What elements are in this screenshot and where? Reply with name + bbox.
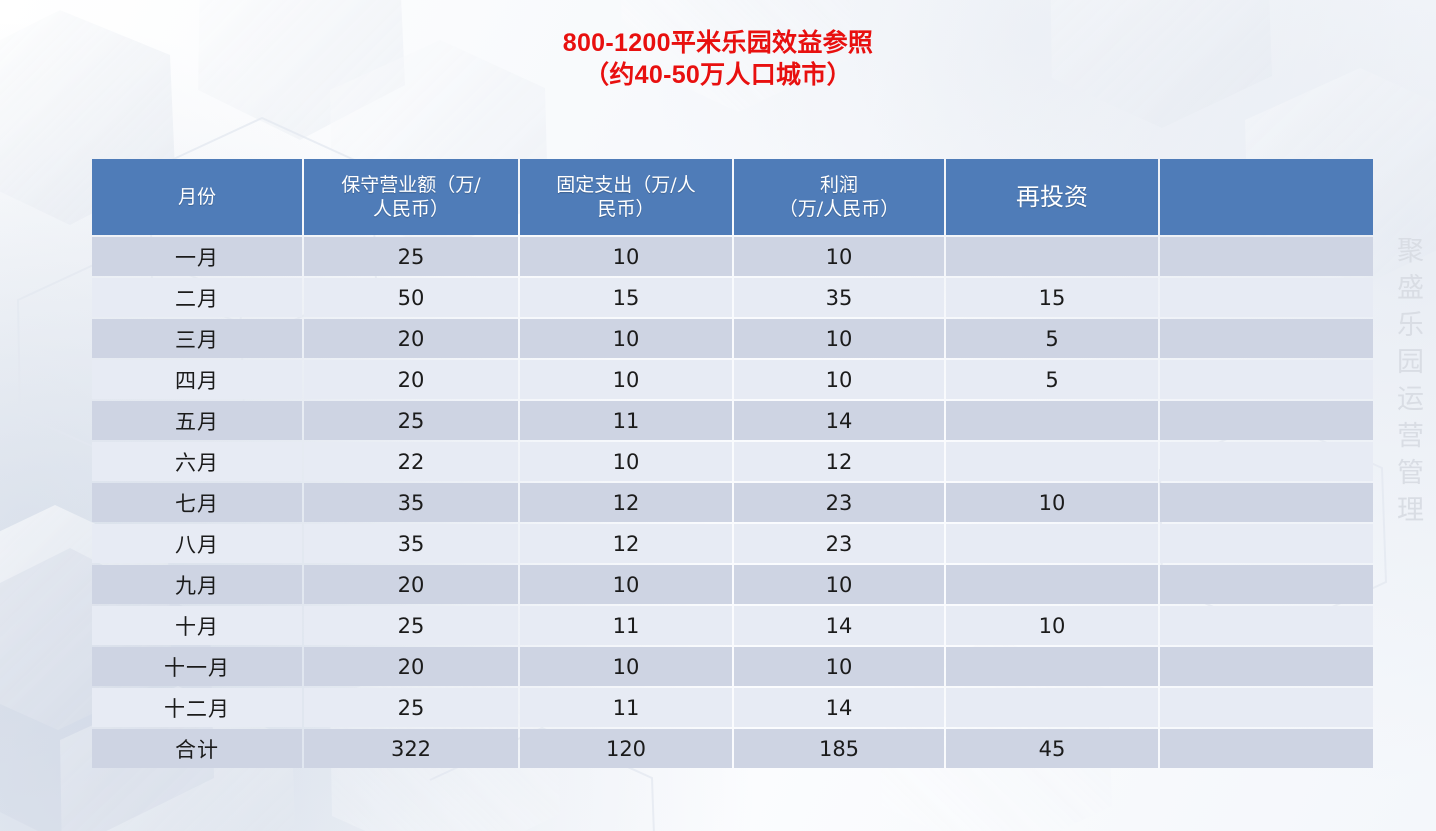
cell-month[interactable]: 四月 [92, 360, 302, 399]
cell-blank[interactable] [1160, 360, 1373, 399]
cell-month-value: 十一月 [92, 652, 302, 682]
column-header-reinvestment[interactable]: 再投资 [946, 159, 1158, 235]
cell-month-value: 十月 [92, 611, 302, 641]
cell-month-value: 七月 [92, 488, 302, 518]
cell-fixed-cost[interactable]: 10 [520, 647, 732, 686]
cell-month[interactable]: 十一月 [92, 647, 302, 686]
cell-profit-value: 14 [734, 696, 944, 720]
column-header-revenue-line-1: 保守营业额（万/ [304, 173, 518, 197]
cell-month[interactable]: 七月 [92, 483, 302, 522]
cell-fixed-cost[interactable]: 120 [520, 729, 732, 768]
profit-reference-table-container: 月份 保守营业额（万/ 人民币） 固定支出（万/人 民币） 利润 （万/人民币）… [92, 159, 1371, 768]
cell-profit[interactable]: 10 [734, 237, 944, 276]
table-row: 三月2010105 [92, 319, 1373, 358]
cell-revenue[interactable]: 20 [304, 319, 518, 358]
cell-month-value: 三月 [92, 324, 302, 354]
table-row: 十一月201010 [92, 647, 1373, 686]
cell-profit[interactable]: 10 [734, 360, 944, 399]
cell-fixed-cost[interactable]: 10 [520, 319, 732, 358]
cell-revenue-value: 20 [304, 327, 518, 351]
cell-profit-value: 10 [734, 368, 944, 392]
cell-revenue-value: 25 [304, 245, 518, 269]
cell-fixed-cost-value: 12 [520, 532, 732, 556]
cell-fixed-cost-value: 10 [520, 573, 732, 597]
cell-profit[interactable]: 10 [734, 565, 944, 604]
cell-profit[interactable]: 14 [734, 606, 944, 645]
cell-month[interactable]: 合计 [92, 729, 302, 768]
cell-month-value: 四月 [92, 365, 302, 395]
cell-profit[interactable]: 10 [734, 647, 944, 686]
table-row: 十月25111410 [92, 606, 1373, 645]
cell-month-value: 五月 [92, 406, 302, 436]
cell-revenue-value: 322 [304, 737, 518, 761]
table-row: 合计32212018545 [92, 729, 1373, 768]
cell-profit[interactable]: 12 [734, 442, 944, 481]
cell-profit-value: 10 [734, 327, 944, 351]
cell-blank[interactable] [1160, 319, 1373, 358]
cell-revenue[interactable]: 20 [304, 565, 518, 604]
cell-revenue[interactable]: 25 [304, 401, 518, 440]
table-header: 月份 保守营业额（万/ 人民币） 固定支出（万/人 民币） 利润 （万/人民币）… [92, 159, 1373, 235]
cell-fixed-cost[interactable]: 11 [520, 401, 732, 440]
cell-fixed-cost-value: 10 [520, 327, 732, 351]
cell-revenue[interactable]: 25 [304, 606, 518, 645]
cell-fixed-cost-value: 10 [520, 655, 732, 679]
cell-month[interactable]: 九月 [92, 565, 302, 604]
cell-fixed-cost-value: 11 [520, 409, 732, 433]
cell-revenue-value: 25 [304, 409, 518, 433]
cell-revenue-value: 35 [304, 491, 518, 515]
cell-revenue-value: 35 [304, 532, 518, 556]
cell-fixed-cost-value: 15 [520, 286, 732, 310]
cell-profit-value: 10 [734, 245, 944, 269]
table-row: 十二月251114 [92, 688, 1373, 727]
cell-revenue[interactable]: 35 [304, 483, 518, 522]
cell-reinvestment[interactable]: 10 [946, 483, 1158, 522]
cell-month[interactable]: 八月 [92, 524, 302, 563]
column-header-profit-line-1: 利润 [734, 173, 944, 197]
cell-fixed-cost-value: 10 [520, 245, 732, 269]
cell-reinvestment[interactable]: 45 [946, 729, 1158, 768]
cell-profit[interactable]: 14 [734, 688, 944, 727]
cell-reinvestment[interactable] [946, 524, 1158, 563]
page-title-line-1: 800-1200平米乐园效益参照 [0, 27, 1436, 59]
column-header-revenue-line-2: 人民币） [304, 197, 518, 221]
cell-revenue-value: 50 [304, 286, 518, 310]
cell-revenue-value: 20 [304, 368, 518, 392]
cell-blank[interactable] [1160, 401, 1373, 440]
cell-profit[interactable]: 23 [734, 524, 944, 563]
cell-profit[interactable]: 10 [734, 319, 944, 358]
cell-fixed-cost[interactable]: 10 [520, 565, 732, 604]
cell-month-value: 合计 [92, 734, 302, 764]
cell-fixed-cost-value: 10 [520, 368, 732, 392]
cell-fixed-cost[interactable]: 15 [520, 278, 732, 317]
cell-revenue[interactable]: 35 [304, 524, 518, 563]
cell-reinvestment-value: 10 [946, 491, 1158, 515]
cell-blank[interactable] [1160, 688, 1373, 727]
cell-profit[interactable]: 14 [734, 401, 944, 440]
cell-blank[interactable] [1160, 606, 1373, 645]
vertical-watermark: 聚盛乐园运营管理 [1388, 236, 1427, 532]
cell-blank[interactable] [1160, 524, 1373, 563]
table-row: 一月251010 [92, 237, 1373, 276]
cell-revenue[interactable]: 20 [304, 360, 518, 399]
cell-reinvestment[interactable] [946, 647, 1158, 686]
cell-revenue-value: 22 [304, 450, 518, 474]
column-header-profit[interactable]: 利润 （万/人民币） [734, 159, 944, 235]
table-body: 一月251010二月50153515三月2010105四月2010105五月25… [92, 237, 1373, 768]
profit-reference-table: 月份 保守营业额（万/ 人民币） 固定支出（万/人 民币） 利润 （万/人民币）… [90, 157, 1375, 770]
table-row: 六月221012 [92, 442, 1373, 481]
table-row: 八月351223 [92, 524, 1373, 563]
cell-blank[interactable] [1160, 565, 1373, 604]
cell-fixed-cost-value: 11 [520, 696, 732, 720]
cell-month[interactable]: 五月 [92, 401, 302, 440]
cell-fixed-cost[interactable]: 10 [520, 442, 732, 481]
cell-revenue-value: 20 [304, 655, 518, 679]
cell-month-value: 九月 [92, 570, 302, 600]
cell-reinvestment-value: 5 [946, 368, 1158, 392]
cell-fixed-cost[interactable]: 10 [520, 237, 732, 276]
cell-blank[interactable] [1160, 729, 1373, 768]
cell-profit-value: 10 [734, 573, 944, 597]
table-row: 四月2010105 [92, 360, 1373, 399]
cell-reinvestment[interactable]: 5 [946, 319, 1158, 358]
cell-month-value: 二月 [92, 283, 302, 313]
column-header-fixed-cost-line-1: 固定支出（万/人 [520, 173, 732, 197]
cell-reinvestment-value: 5 [946, 327, 1158, 351]
cell-fixed-cost-value: 10 [520, 450, 732, 474]
cell-blank[interactable] [1160, 647, 1373, 686]
cell-revenue[interactable]: 25 [304, 688, 518, 727]
table-row: 七月35122310 [92, 483, 1373, 522]
cell-month[interactable]: 三月 [92, 319, 302, 358]
cell-profit-value: 23 [734, 491, 944, 515]
cell-profit-value: 14 [734, 409, 944, 433]
column-header-reinvestment-line-1: 再投资 [946, 182, 1158, 213]
cell-reinvestment-value: 45 [946, 737, 1158, 761]
cell-revenue[interactable]: 20 [304, 647, 518, 686]
cell-month[interactable]: 十二月 [92, 688, 302, 727]
table-row: 九月201010 [92, 565, 1373, 604]
column-header-fixed-cost[interactable]: 固定支出（万/人 民币） [520, 159, 732, 235]
cell-fixed-cost[interactable]: 12 [520, 483, 732, 522]
cell-reinvestment[interactable]: 15 [946, 278, 1158, 317]
cell-blank[interactable] [1160, 237, 1373, 276]
cell-revenue[interactable]: 25 [304, 237, 518, 276]
cell-reinvestment[interactable] [946, 565, 1158, 604]
cell-reinvestment[interactable]: 5 [946, 360, 1158, 399]
cell-revenue-value: 20 [304, 573, 518, 597]
cell-month-value: 六月 [92, 447, 302, 477]
cell-profit-value: 35 [734, 286, 944, 310]
cell-blank[interactable] [1160, 442, 1373, 481]
cell-revenue-value: 25 [304, 696, 518, 720]
cell-fixed-cost[interactable]: 12 [520, 524, 732, 563]
cell-blank[interactable] [1160, 278, 1373, 317]
cell-reinvestment[interactable] [946, 688, 1158, 727]
cell-fixed-cost-value: 11 [520, 614, 732, 638]
page-title-line-2: （约40-50万人口城市） [0, 59, 1436, 91]
cell-month-value: 八月 [92, 529, 302, 559]
cell-revenue-value: 25 [304, 614, 518, 638]
cell-revenue[interactable]: 50 [304, 278, 518, 317]
cell-revenue[interactable]: 322 [304, 729, 518, 768]
cell-month[interactable]: 二月 [92, 278, 302, 317]
page-title: 800-1200平米乐园效益参照 （约40-50万人口城市） [0, 27, 1436, 91]
cell-month-value: 一月 [92, 242, 302, 272]
cell-month[interactable]: 六月 [92, 442, 302, 481]
column-header-month-line-1: 月份 [92, 185, 302, 209]
cell-reinvestment[interactable] [946, 442, 1158, 481]
cell-profit-value: 23 [734, 532, 944, 556]
column-header-fixed-cost-line-2: 民币） [520, 197, 732, 221]
table-row: 二月50153515 [92, 278, 1373, 317]
cell-fixed-cost[interactable]: 10 [520, 360, 732, 399]
cell-profit-value: 185 [734, 737, 944, 761]
cell-reinvestment[interactable]: 10 [946, 606, 1158, 645]
column-header-revenue[interactable]: 保守营业额（万/ 人民币） [304, 159, 518, 235]
cell-profit[interactable]: 185 [734, 729, 944, 768]
table-header-row: 月份 保守营业额（万/ 人民币） 固定支出（万/人 民币） 利润 （万/人民币）… [92, 159, 1373, 235]
cell-month[interactable]: 一月 [92, 237, 302, 276]
table-row: 五月251114 [92, 401, 1373, 440]
cell-reinvestment[interactable] [946, 401, 1158, 440]
cell-profit[interactable]: 23 [734, 483, 944, 522]
cell-profit-value: 14 [734, 614, 944, 638]
cell-month-value: 十二月 [92, 693, 302, 723]
cell-blank[interactable] [1160, 483, 1373, 522]
cell-profit-value: 12 [734, 450, 944, 474]
cell-fixed-cost-value: 12 [520, 491, 732, 515]
cell-reinvestment-value: 10 [946, 614, 1158, 638]
cell-fixed-cost-value: 120 [520, 737, 732, 761]
column-header-profit-line-2: （万/人民币） [734, 197, 944, 221]
cell-fixed-cost[interactable]: 11 [520, 606, 732, 645]
cell-reinvestment-value: 15 [946, 286, 1158, 310]
cell-profit[interactable]: 35 [734, 278, 944, 317]
cell-month[interactable]: 十月 [92, 606, 302, 645]
column-header-blank[interactable] [1160, 159, 1373, 235]
cell-revenue[interactable]: 22 [304, 442, 518, 481]
cell-fixed-cost[interactable]: 11 [520, 688, 732, 727]
cell-profit-value: 10 [734, 655, 944, 679]
column-header-month[interactable]: 月份 [92, 159, 302, 235]
cell-reinvestment[interactable] [946, 237, 1158, 276]
